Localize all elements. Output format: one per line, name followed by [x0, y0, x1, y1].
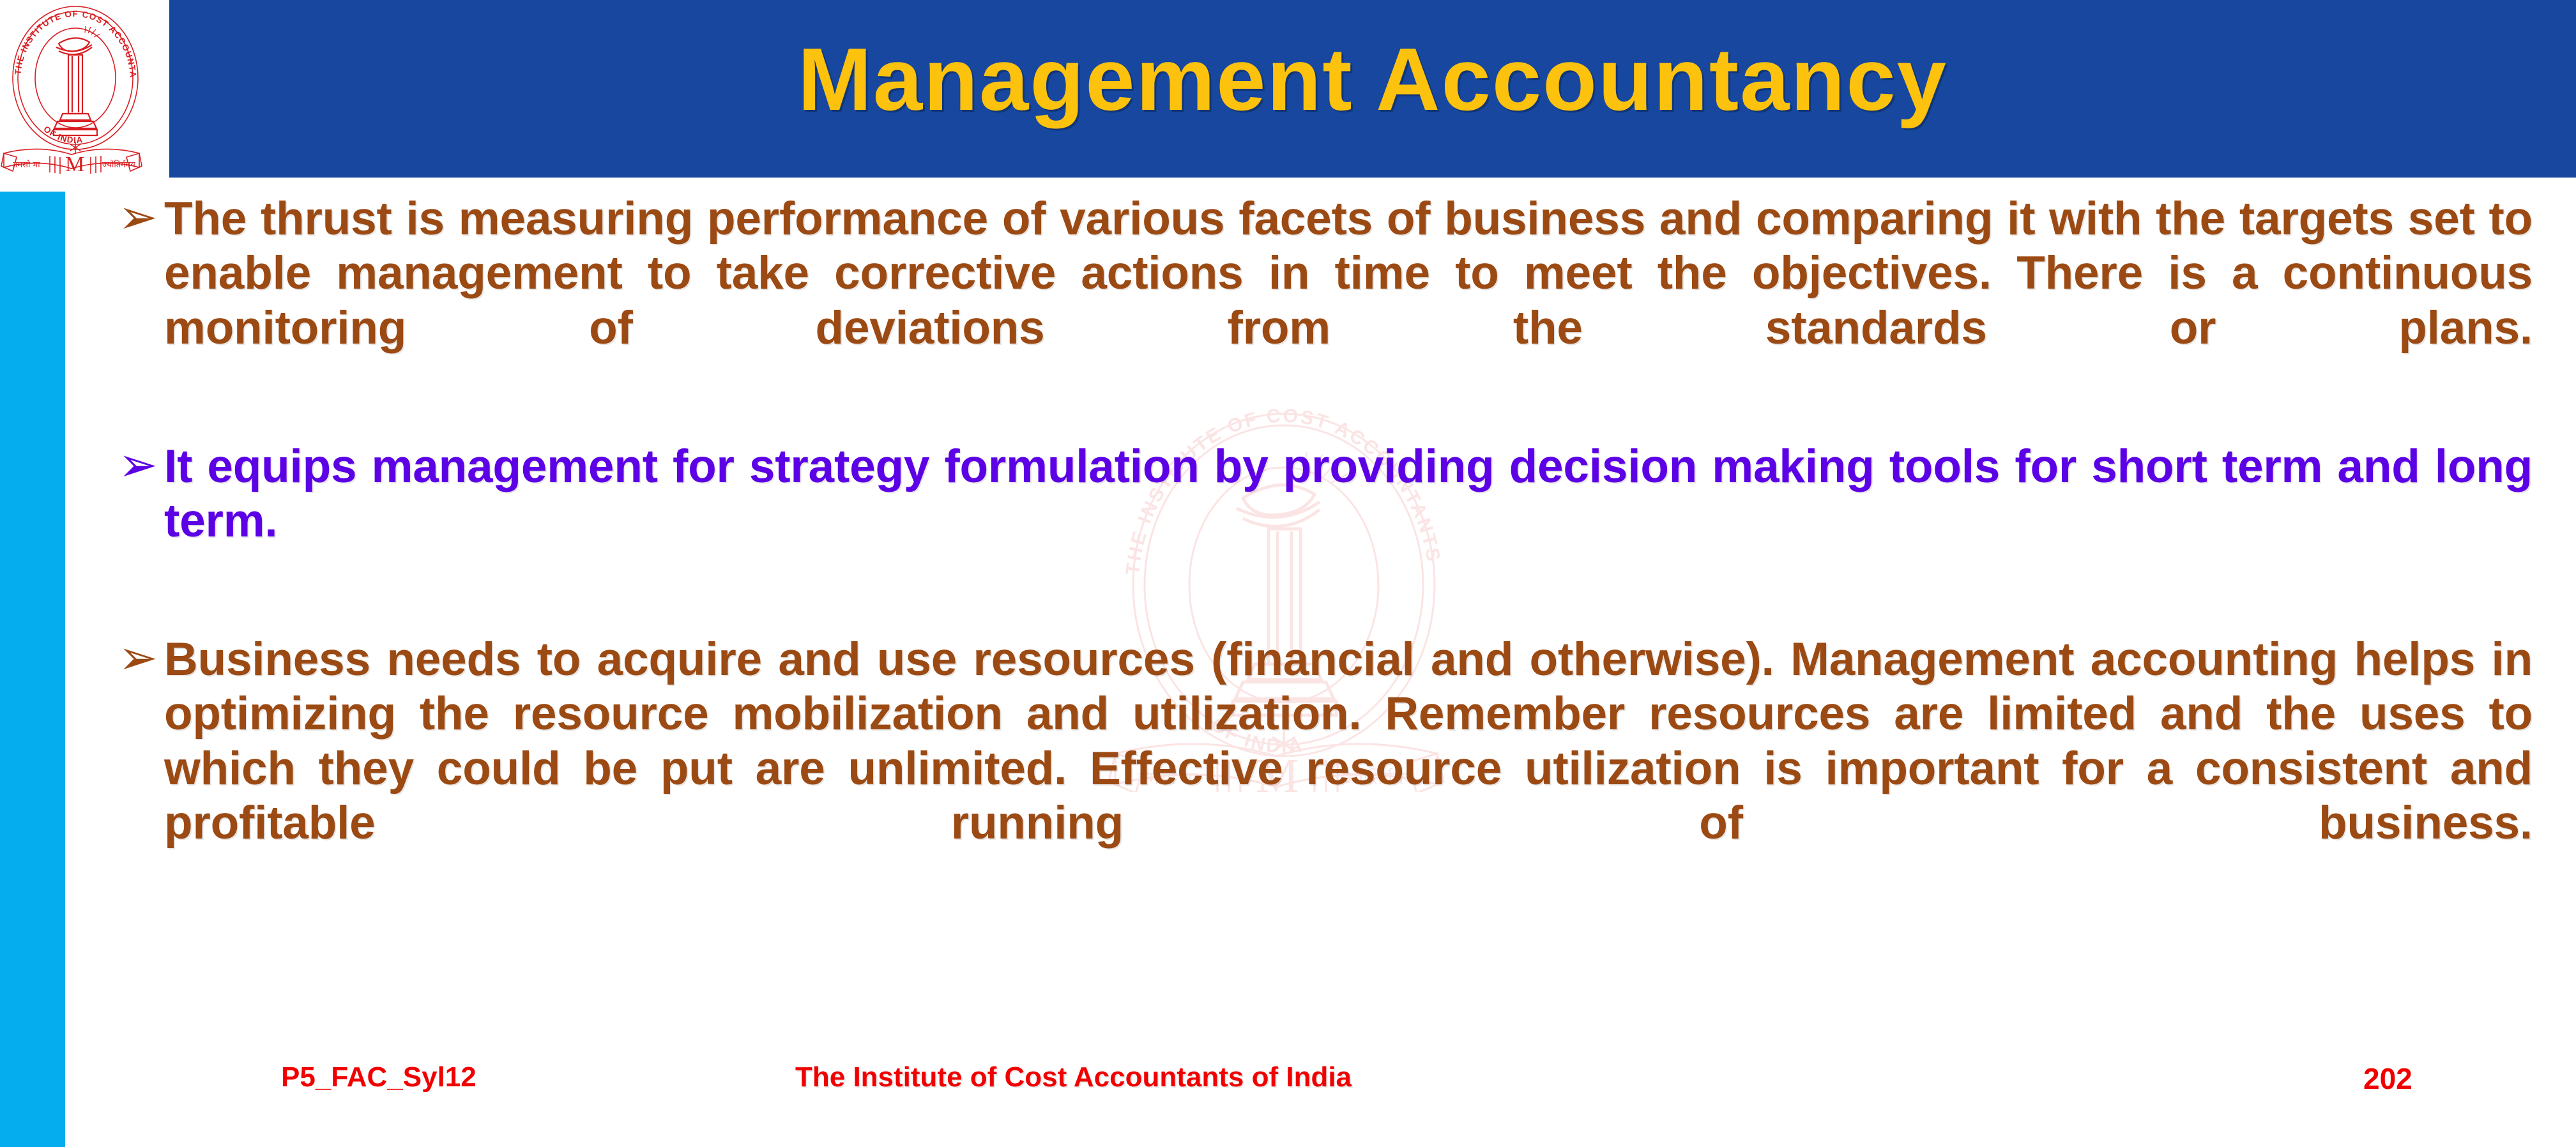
arrow-bullet-icon: ➢ — [118, 443, 164, 488]
left-accent-rail — [0, 192, 65, 1147]
footer-subject-code: P5_FAC_Syl12 — [281, 1061, 476, 1093]
slide-header: Management Accountancy THE INSTITUTE OF … — [0, 0, 2576, 178]
arrow-bullet-icon: ➢ — [118, 636, 164, 681]
footer-page-number: 202 — [2363, 1061, 2412, 1096]
slide-body: ➢ The thrust is measuring performance of… — [118, 192, 2533, 934]
svg-text:ज्योतिर्गमय: ज्योतिर्गमय — [102, 160, 135, 170]
arrow-bullet-icon: ➢ — [118, 195, 164, 240]
bullet-text: Business needs to acquire and use resour… — [164, 632, 2533, 905]
bullet-item: ➢ It equips management for strategy form… — [118, 439, 2533, 603]
bullet-text: The thrust is measuring performance of v… — [164, 192, 2533, 410]
svg-text:M: M — [65, 153, 84, 176]
page-title: Management Accountancy — [169, 0, 2576, 178]
slide-footer: P5_FAC_Syl12 The Institute of Cost Accou… — [0, 1052, 2576, 1110]
bullet-item: ➢ Business needs to acquire and use reso… — [118, 632, 2533, 905]
title-bar: Management Accountancy — [169, 0, 2576, 178]
footer-organization: The Institute of Cost Accountants of Ind… — [795, 1061, 1352, 1093]
bullet-text: It equips management for strategy formul… — [164, 439, 2533, 603]
bullet-item: ➢ The thrust is measuring performance of… — [118, 192, 2533, 410]
institute-logo: THE INSTITUTE OF COST ACCOUNTANTS OF IND… — [0, 0, 169, 177]
svg-text:तमसो मा: तमसो मा — [13, 160, 40, 170]
institute-seal-icon: THE INSTITUTE OF COST ACCOUNTANTS OF IND… — [0, 0, 169, 177]
